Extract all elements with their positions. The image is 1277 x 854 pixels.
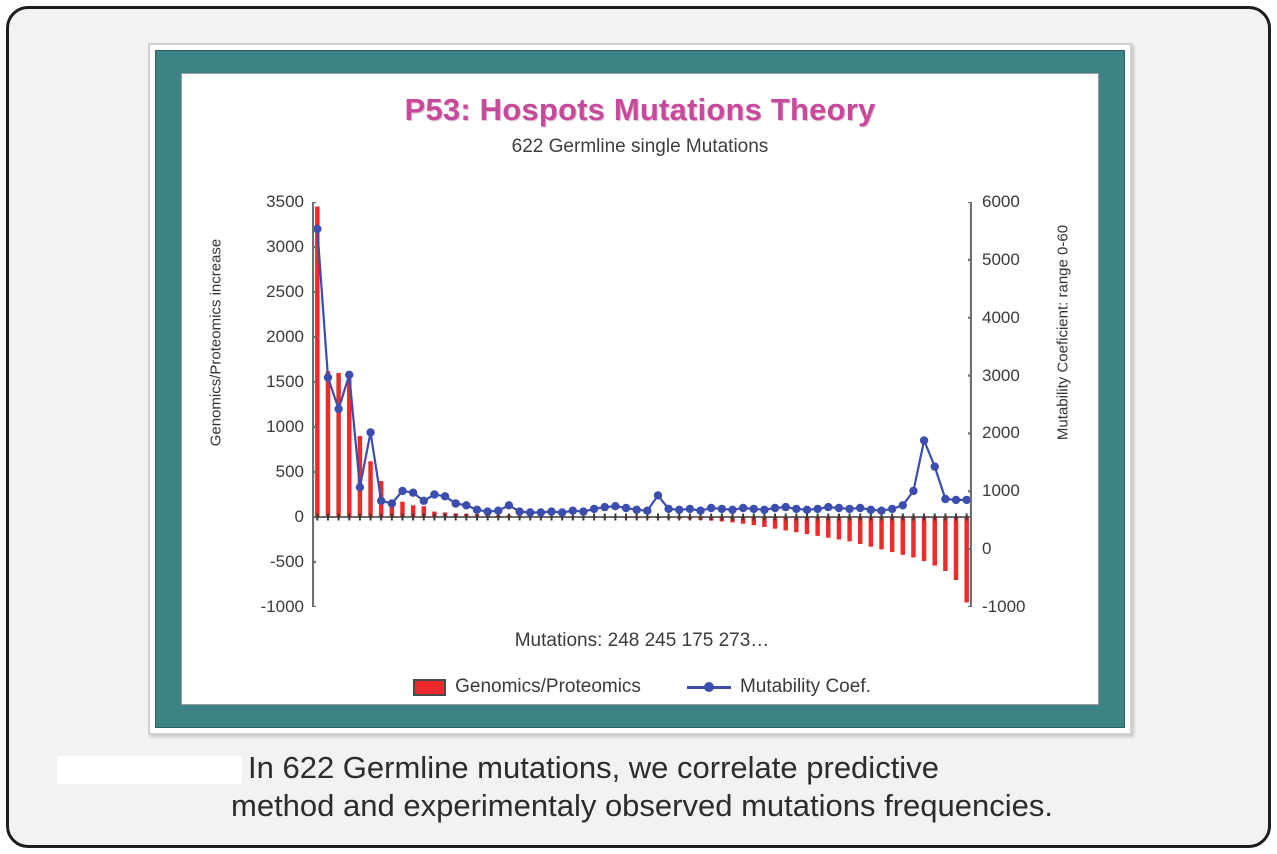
line-marker <box>388 499 396 507</box>
slide-caption: In 622 Germline mutations, we correlate … <box>57 749 1227 825</box>
line-marker <box>664 505 672 513</box>
line-marker <box>771 504 779 512</box>
line-marker <box>728 506 736 514</box>
bar-genomics <box>943 517 947 571</box>
y-axis-left-tick-label: 500 <box>276 462 304 482</box>
y-axis-right-tick-label: 1000 <box>982 481 1020 501</box>
line-marker <box>313 225 321 233</box>
bar-genomics <box>368 461 372 517</box>
bar-genomics <box>901 517 905 555</box>
line-marker <box>909 487 917 495</box>
line-marker <box>632 506 640 514</box>
line-marker <box>601 503 609 511</box>
legend-swatch-icon <box>413 679 446 696</box>
line-marker <box>899 501 907 509</box>
y-axis-left-ticks: 3500300025002000150010005000-500-1000 <box>204 202 304 607</box>
y-axis-right-tick-label: 0 <box>982 539 991 559</box>
y-axis-left-tick-label: 1000 <box>266 417 304 437</box>
line-marker <box>483 507 491 515</box>
line-marker <box>654 491 662 499</box>
line-marker <box>547 507 555 515</box>
bar-genomics <box>922 517 926 561</box>
chart-title: P53: Hospots Mutations Theory <box>182 92 1098 128</box>
line-marker <box>462 501 470 509</box>
line-marker <box>931 462 939 470</box>
line-marker <box>888 505 896 513</box>
y-axis-right-tick-label: 5000 <box>982 250 1020 270</box>
line-marker <box>867 506 875 514</box>
line-marker <box>760 506 768 514</box>
chart-teal-border: P53: Hospots Mutations Theory 622 Germli… <box>155 50 1125 728</box>
line-marker <box>718 505 726 513</box>
line-marker <box>792 505 800 513</box>
slide-frame: P53: Hospots Mutations Theory 622 Germli… <box>6 6 1271 848</box>
line-marker <box>813 505 821 513</box>
line-marker <box>356 483 364 491</box>
legend-label-genomics: Genomics/Proteomics <box>455 676 641 698</box>
legend-line-marker-icon <box>687 682 731 692</box>
y-axis-right-tick-label: -1000 <box>982 597 1025 617</box>
caption-line-2: method and experimentaly observed mutati… <box>57 787 1227 825</box>
line-marker <box>345 371 353 379</box>
line-marker <box>622 504 630 512</box>
y-axis-left-tick-label: -1000 <box>261 597 304 617</box>
line-marker <box>420 497 428 505</box>
line-marker <box>686 505 694 513</box>
line-marker <box>398 487 406 495</box>
chart-subtitle: 622 Germline single Mutations <box>182 136 1098 158</box>
line-marker <box>856 504 864 512</box>
bar-genomics <box>336 373 340 517</box>
caption-line-1: In 622 Germline mutations, we correlate … <box>248 750 939 785</box>
y-axis-left-tick-label: 0 <box>295 507 304 527</box>
bar-genomics <box>964 517 968 603</box>
line-marker <box>526 508 534 516</box>
y-axis-left-tick-label: 2500 <box>266 282 304 302</box>
chart-legend: Genomics/Proteomics Mutability Coef. <box>312 670 972 704</box>
line-marker <box>675 506 683 514</box>
line-marker <box>845 505 853 513</box>
line-marker <box>452 499 460 507</box>
legend-item-genomics: Genomics/Proteomics <box>413 676 641 698</box>
bar-genomics <box>879 517 883 549</box>
line-marker <box>334 405 342 413</box>
line-marker <box>611 502 619 510</box>
line-marker <box>377 497 385 505</box>
x-axis-label: Mutations: 248 245 175 273… <box>312 630 972 652</box>
bar-genomics <box>890 517 894 552</box>
line-marker <box>782 503 790 511</box>
legend-label-mutability: Mutability Coef. <box>740 676 871 698</box>
line-marker <box>643 507 651 515</box>
chart-canvas: P53: Hospots Mutations Theory 622 Germli… <box>181 73 1099 705</box>
redaction-block <box>57 756 242 784</box>
line-marker <box>324 373 332 381</box>
line-marker <box>366 428 374 436</box>
y-axis-left-tick-label: 3500 <box>266 192 304 212</box>
bar-genomics <box>954 517 958 580</box>
chart-container: P53: Hospots Mutations Theory 622 Germli… <box>148 43 1132 735</box>
bar-genomics <box>869 517 873 547</box>
y-axis-right-tick-label: 2000 <box>982 423 1020 443</box>
line-marker <box>824 503 832 511</box>
bar-genomics <box>858 517 862 544</box>
line-marker <box>505 501 513 509</box>
y-axis-right-ticks: 6000500040003000200010000-1000 <box>982 202 1072 607</box>
y-axis-left-tick-label: 1500 <box>266 372 304 392</box>
line-marker <box>569 507 577 515</box>
line-marker <box>803 506 811 514</box>
bar-genomics <box>911 517 915 558</box>
line-marker <box>877 507 885 515</box>
line-mutability <box>317 229 966 513</box>
line-marker <box>835 504 843 512</box>
plot-area <box>312 202 972 607</box>
line-marker <box>590 505 598 513</box>
line-marker <box>473 506 481 514</box>
line-marker <box>962 496 970 504</box>
line-marker <box>430 490 438 498</box>
line-marker <box>750 505 758 513</box>
line-marker <box>409 489 417 497</box>
y-axis-right-tick-label: 4000 <box>982 308 1020 328</box>
line-marker <box>579 507 587 515</box>
legend-item-mutability: Mutability Coef. <box>687 676 871 698</box>
line-marker <box>952 496 960 504</box>
y-axis-left-tick-label: -500 <box>270 552 304 572</box>
line-marker <box>515 507 523 515</box>
bar-genomics <box>847 517 851 541</box>
bar-genomics <box>933 517 937 566</box>
line-marker <box>441 492 449 500</box>
line-marker <box>558 508 566 516</box>
line-marker <box>537 508 545 516</box>
bar-genomics <box>326 371 330 517</box>
line-marker <box>739 504 747 512</box>
line-marker <box>494 507 502 515</box>
y-axis-right-tick-label: 3000 <box>982 366 1020 386</box>
line-marker <box>696 507 704 515</box>
line-marker <box>920 436 928 444</box>
y-axis-left-tick-label: 3000 <box>266 237 304 257</box>
chart-plot-svg <box>312 202 972 607</box>
y-axis-right-tick-label: 6000 <box>982 192 1020 212</box>
y-axis-left-tick-label: 2000 <box>266 327 304 347</box>
line-marker <box>941 495 949 503</box>
line-marker <box>707 504 715 512</box>
